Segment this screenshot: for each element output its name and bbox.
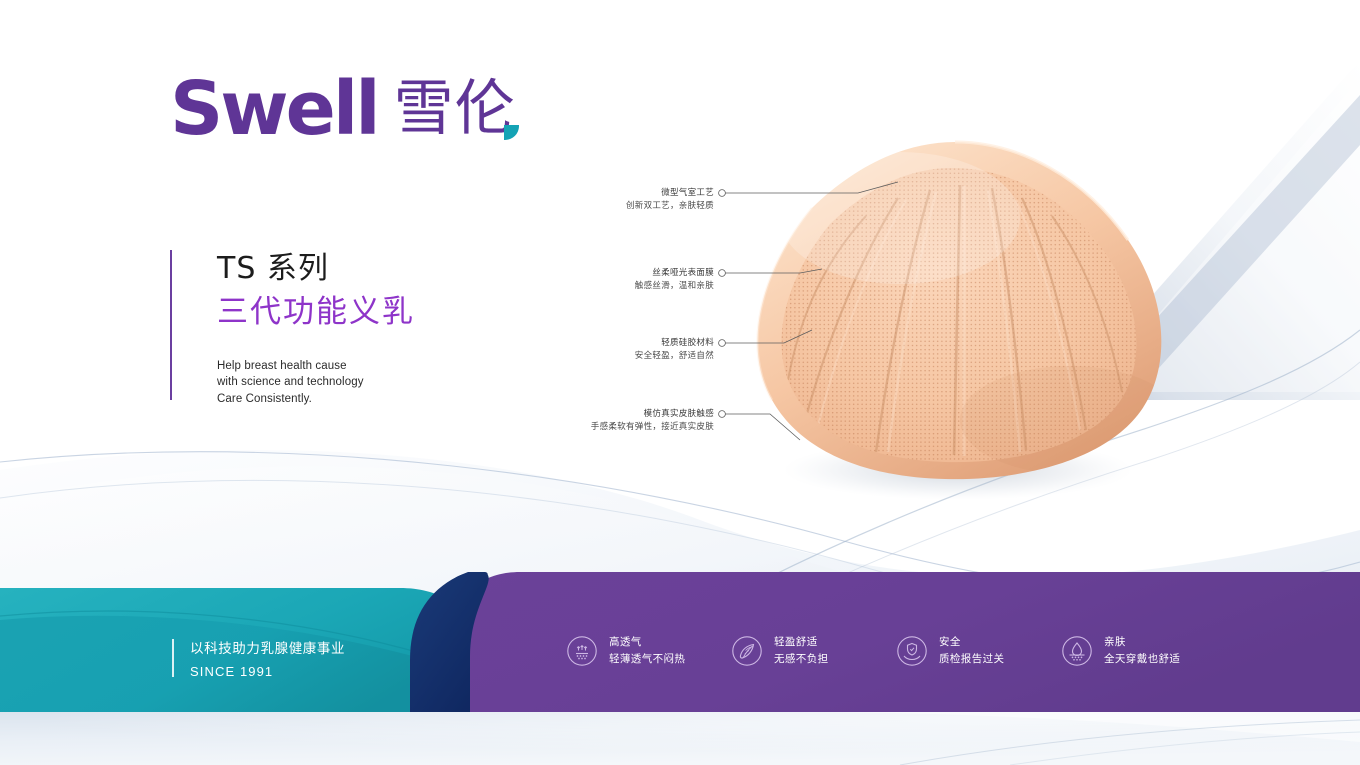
feature-1-desc: 轻薄透气不闷热 (609, 651, 685, 668)
feature-3-title: 安全 (939, 634, 1004, 651)
tagline-divider (172, 639, 174, 677)
feature-strip: 高透气 轻薄透气不闷热 轻盈舒适 无感不负担 (566, 634, 1226, 668)
feature-2-desc: 无感不负担 (774, 651, 829, 668)
feature-3-desc: 质检报告过关 (939, 651, 1004, 668)
callout-4-title: 模仿真实皮肤触感 (591, 408, 714, 421)
callout-1-title: 微型气室工艺 (626, 187, 714, 200)
callout-1-desc: 创新双工艺，亲肤轻质 (626, 200, 714, 213)
callout-4-desc: 手感柔软有弹性，接近真实皮肤 (591, 421, 714, 434)
breathable-icon (566, 635, 598, 667)
feature-4-desc: 全天穿戴也舒适 (1104, 651, 1180, 668)
feature-1-title: 高透气 (609, 634, 685, 651)
callout-2: 丝柔哑光表面膜 触感丝滑，温和亲肤 (635, 267, 714, 293)
company-tagline: 以科技助力乳腺健康事业 SINCE 1991 (172, 639, 345, 682)
feature-item-light: 轻盈舒适 无感不负担 (731, 634, 896, 668)
feature-4-title: 亲肤 (1104, 634, 1180, 651)
callout-2-desc: 触感丝滑，温和亲肤 (635, 280, 714, 293)
callout-3: 轻质硅胶材料 安全轻盈，舒适自然 (635, 337, 714, 363)
callout-4: 模仿真实皮肤触感 手感柔软有弹性，接近真实皮肤 (591, 408, 714, 434)
poster-canvas: Swell 雪伦 TS 系列 三代功能义乳 Help breast health… (0, 0, 1360, 765)
shield-hand-icon (896, 635, 928, 667)
callout-1: 微型气室工艺 创新双工艺，亲肤轻质 (626, 187, 714, 213)
callout-3-title: 轻质硅胶材料 (635, 337, 714, 350)
feather-icon (731, 635, 763, 667)
callout-3-desc: 安全轻盈，舒适自然 (635, 350, 714, 363)
callout-2-title: 丝柔哑光表面膜 (635, 267, 714, 280)
tagline-line-2: SINCE 1991 (190, 662, 345, 682)
feature-item-safety: 安全 质检报告过关 (896, 634, 1061, 668)
droplet-icon (1061, 635, 1093, 667)
feature-2-title: 轻盈舒适 (774, 634, 829, 651)
feature-item-skin-friendly: 亲肤 全天穿戴也舒适 (1061, 634, 1226, 668)
tagline-line-1: 以科技助力乳腺健康事业 (190, 639, 345, 660)
feature-item-breathable: 高透气 轻薄透气不闷热 (566, 634, 731, 668)
